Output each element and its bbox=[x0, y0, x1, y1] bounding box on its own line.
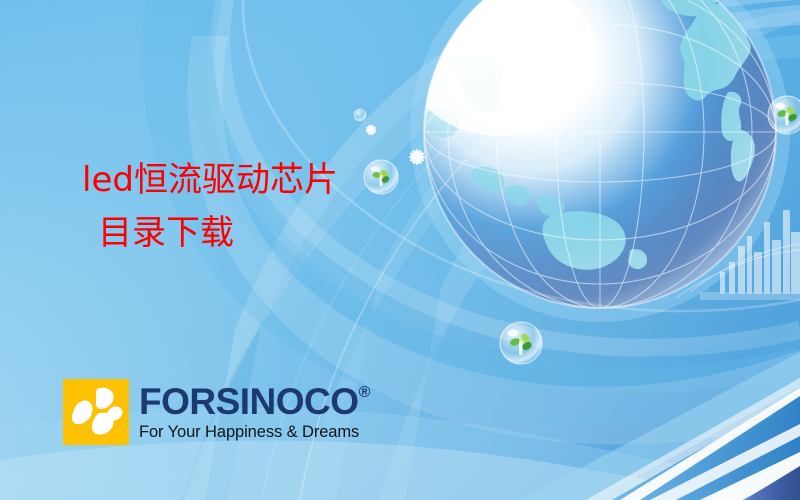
brand-logo: FORSINOCO® For Your Happiness & Dreams bbox=[63, 379, 370, 445]
four-petal-flower-icon bbox=[63, 379, 129, 445]
logo-text-block: FORSINOCO® For Your Happiness & Dreams bbox=[139, 383, 370, 441]
poster-canvas: led恒流驱动芯片 目录下载 FORSINOCO® For Your Happi… bbox=[0, 0, 800, 500]
logo-wordmark-text: FORSINOCO bbox=[139, 383, 359, 420]
registered-trademark-icon: ® bbox=[359, 385, 370, 401]
bubble-pinwheel-icon bbox=[500, 322, 542, 364]
logo-wordmark: FORSINOCO® bbox=[139, 383, 370, 420]
bubble-pinwheel-icon bbox=[364, 160, 398, 194]
bubble-pinwheel-icon bbox=[768, 96, 800, 134]
bubble-small-icon bbox=[354, 109, 366, 121]
logo-tagline: For Your Happiness & Dreams bbox=[139, 424, 370, 441]
